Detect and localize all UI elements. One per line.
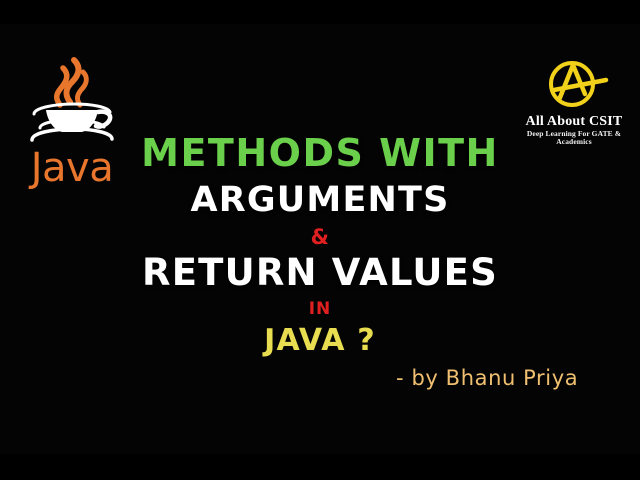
title-line-java: JAVA ? [0, 326, 640, 356]
csit-channel-name: All About CSIT [516, 114, 632, 129]
anarchy-a-circle-icon [538, 56, 610, 114]
main-title-block: METHODS WITH ARGUMENTS & RETURN VALUES I… [0, 134, 640, 356]
title-line-return-values: RETURN VALUES [0, 254, 640, 291]
title-card-canvas: Java All About CSIT Deep Learning For GA… [0, 0, 640, 480]
letterbox-bar-top [0, 0, 640, 24]
title-line-in: IN [0, 301, 640, 318]
title-line-ampersand: & [0, 227, 640, 248]
title-line-arguments: ARGUMENTS [0, 183, 640, 218]
title-line-methods-with: METHODS WITH [0, 134, 640, 172]
author-byline: - by Bhanu Priya [396, 366, 578, 390]
letterbox-bar-bottom [0, 454, 640, 480]
